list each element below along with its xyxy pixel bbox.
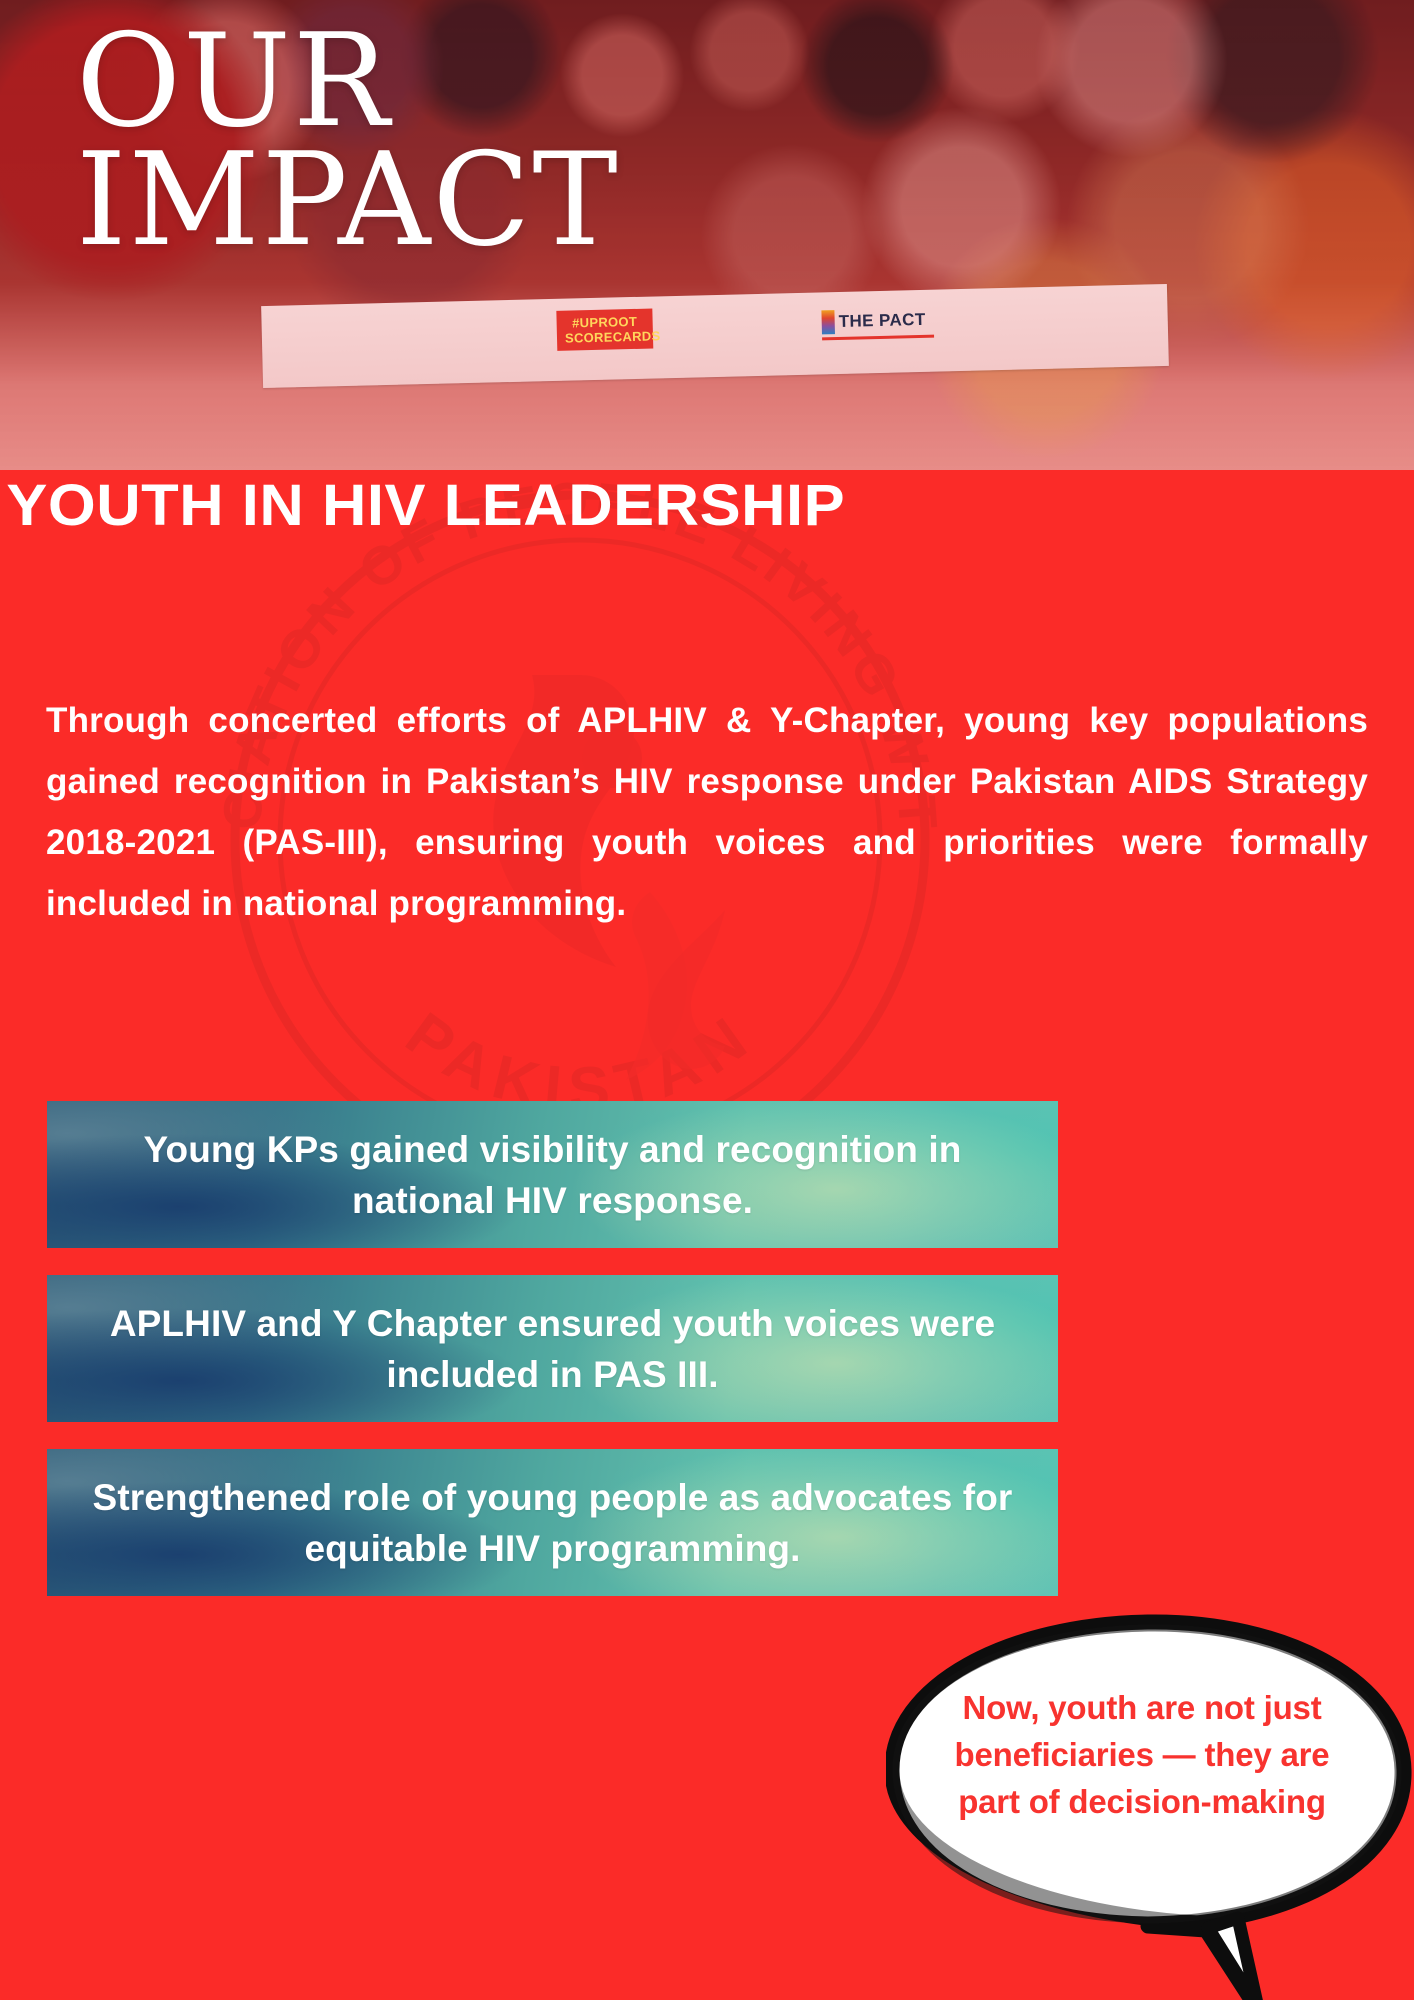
pact-color-bar-icon <box>821 310 835 334</box>
impact-highlight-item: Young KPs gained visibility and recognit… <box>47 1101 1058 1248</box>
speech-bubble-text: Now, youth are not just beneficiaries — … <box>942 1684 1342 1825</box>
impact-highlight-text: Young KPs gained visibility and recognit… <box>77 1124 1027 1226</box>
speech-bubble: Now, youth are not just beneficiaries — … <box>886 1612 1414 2000</box>
hero-title-line-2: IMPACT <box>76 141 620 260</box>
impact-highlight-list: Young KPs gained visibility and recognit… <box>47 1101 1058 1623</box>
impact-highlight-text: Strengthened role of young people as adv… <box>77 1472 1027 1574</box>
uproot-scorecards-logo: #UPROOT SCORECARDS <box>556 309 653 351</box>
impact-highlight-item: Strengthened role of young people as adv… <box>47 1449 1058 1596</box>
impact-highlight-item: APLHIV and Y Chapter ensured youth voice… <box>47 1275 1058 1422</box>
the-pact-label: THE PACT <box>838 310 925 332</box>
pact-underline-rule <box>822 335 934 341</box>
poster-root: #UPROOT SCORECARDS THE PACT OUR IMPACT A… <box>0 0 1414 2000</box>
hero-title: OUR IMPACT <box>76 22 620 260</box>
impact-highlight-text: APLHIV and Y Chapter ensured youth voice… <box>77 1298 1027 1400</box>
hero-title-line-1: OUR <box>76 22 620 141</box>
the-pact-logo: THE PACT <box>821 308 926 335</box>
intro-paragraph: Through concerted efforts of APLHIV & Y-… <box>46 690 1368 934</box>
page-title: YOUTH IN HIV LEADERSHIP <box>0 474 1414 538</box>
hero-photo-section: #UPROOT SCORECARDS THE PACT OUR IMPACT <box>0 0 1414 470</box>
